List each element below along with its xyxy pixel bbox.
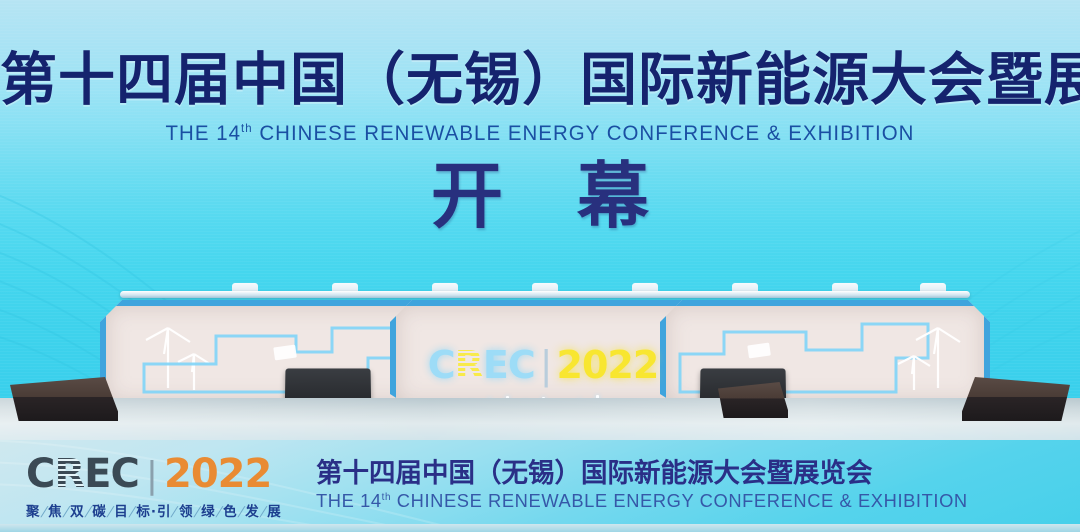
banner-bottom-edge xyxy=(0,524,1080,532)
stage-logo-ec: EC xyxy=(483,343,535,387)
bottom-banner: CREC|2022 聚/焦/双/碳/目/标·引/领/绿/色/发/展 第十四届中国… xyxy=(0,440,1080,532)
banner-title-en-rest: CHINESE RENEWABLE ENERGY CONFERENCE & EX… xyxy=(391,490,968,511)
stage-monitor-speaker-right xyxy=(962,377,1070,421)
banner-title-block: 第十四届中国（无锡）国际新能源大会暨展览会 THE 14th CHINESE R… xyxy=(308,460,1080,513)
backdrop-title-en-prefix: THE 14 xyxy=(166,121,242,145)
banner-title-english: THE 14th CHINESE RENEWABLE ENERGY CONFER… xyxy=(316,490,1072,512)
console-panel-left xyxy=(100,300,438,408)
stage-logo-year: 2022 xyxy=(557,343,659,387)
backdrop-header: 第十四届中国（无锡）国际新能源大会暨展览会 THE 14th CHINESE R… xyxy=(0,52,1080,146)
wind-turbine-icon-left xyxy=(146,328,210,390)
stage-logo-r: R xyxy=(455,343,483,387)
banner-logo-c: C xyxy=(26,451,54,497)
banner-logo-ec: EC xyxy=(84,451,139,497)
stage-logo: CREC|2022 xyxy=(418,342,668,388)
banner-logo-tagline: 聚/焦/双/碳/目/标·引/领/绿/色/发/展 xyxy=(26,500,308,520)
tagline-char: 展 xyxy=(267,500,282,520)
banner-logo-r: R xyxy=(54,451,84,497)
backdrop-title-english: THE 14th CHINESE RENEWABLE ENERGY CONFER… xyxy=(27,121,1053,146)
ceremony-word: 开幕 xyxy=(0,160,1080,232)
banner-logo: CREC|2022 聚/焦/双/碳/目/标·引/领/绿/色/发/展 xyxy=(26,452,308,520)
stage-floor-reflection xyxy=(0,398,1080,440)
tagline-char: 标 xyxy=(136,500,151,520)
banner-title-en-prefix: THE 14 xyxy=(316,490,382,511)
banner-logo-year: 2022 xyxy=(164,451,271,497)
panel-left-graphic xyxy=(106,306,432,402)
banner-title-en-ordinal: th xyxy=(382,492,391,503)
podium-railing xyxy=(120,291,970,298)
backdrop-title-en-ordinal: th xyxy=(241,121,253,135)
banner-content: CREC|2022 聚/焦/双/碳/目/标·引/领/绿/色/发/展 第十四届中国… xyxy=(0,440,1080,532)
banner-logo-wordmark: CREC|2022 xyxy=(26,452,308,498)
banner-logo-divider: | xyxy=(139,455,164,496)
banner-title-chinese: 第十四届中国（无锡）国际新能源大会暨展览会 xyxy=(316,460,1080,488)
backdrop-title-en-rest: CHINESE RENEWABLE ENERGY CONFERENCE & EX… xyxy=(253,121,915,145)
stage-monitor-speaker-left xyxy=(10,377,118,421)
stage-monitor-speaker-center xyxy=(718,382,788,418)
stage-logo-c: C xyxy=(428,343,455,387)
backdrop-title-chinese: 第十四届中国（无锡）国际新能源大会暨展览会 xyxy=(0,52,1080,109)
stage-logo-divider: | xyxy=(535,343,557,387)
screenshot-root: 第十四届中国（无锡）国际新能源大会暨展览会 THE 14th CHINESE R… xyxy=(0,0,1080,532)
solar-panel-icon-left xyxy=(273,345,297,361)
solar-panel-icon-right xyxy=(747,343,771,359)
